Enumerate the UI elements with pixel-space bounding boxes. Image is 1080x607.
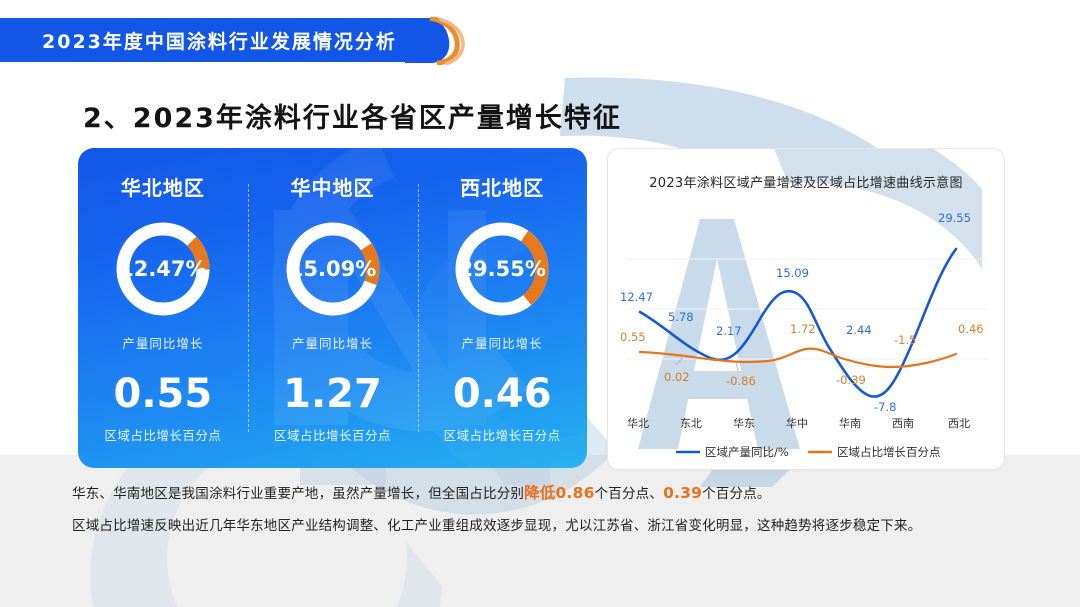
donut-chart-huazhong: 15.09% [279, 215, 387, 323]
donut-value-label: 12.47% [109, 215, 217, 323]
header-ribbon-curve-accent [405, 17, 475, 65]
pct-caption: 产量同比增长 [292, 333, 373, 352]
data-label-blue-5: -7.8 [874, 400, 896, 414]
donut-chart-huabei: 12.47% [109, 215, 217, 323]
data-label-orange-3: 1.72 [790, 322, 816, 336]
data-label-blue-3: 15.09 [776, 266, 809, 280]
share-caption: 区域占比增长百分点 [444, 425, 561, 444]
data-label-orange-0: 0.55 [620, 330, 646, 344]
note-1-part-b: 个百分点、 [595, 486, 664, 502]
legend-label-share-growth: 区域占比增长百分点 [837, 445, 941, 459]
x-axis-label-5: 西南 [892, 417, 914, 430]
x-axis-label-6: 西北 [948, 417, 970, 430]
pct-caption: 产量同比增长 [122, 333, 203, 352]
region-name: 西北地区 [460, 172, 544, 201]
x-axis-label-0: 华北 [627, 416, 649, 430]
data-label-orange-5: -1.5 [894, 333, 916, 347]
x-axis-label-3: 华中 [786, 416, 808, 430]
share-caption: 区域占比增长百分点 [274, 425, 391, 444]
donut-chart-xibei: 29.55% [448, 215, 556, 323]
data-label-blue-1: 5.78 [668, 310, 694, 324]
column-divider-2 [418, 184, 419, 432]
data-label-orange-4: -0.39 [836, 373, 866, 387]
region-name: 华中地区 [291, 172, 375, 201]
donut-value-label: 29.55% [448, 215, 556, 323]
bottom-notes: 华东、华南地区是我国涂料行业重要产地，虽然产量增长，但全国占比分别降低0.86个… [72, 486, 921, 551]
header-ribbon-bar: 2023年度中国涂料行业发展情况分析 [0, 18, 432, 62]
legend-label-production-yoy: 区域产量同比/% [705, 445, 789, 459]
trend-chart-card: 2023年涂料区域产量增速及区域占比增速曲线示意图 [607, 148, 1005, 470]
x-axis-label-2: 华东 [733, 416, 755, 430]
regional-stats-card: 华北地区 12.47% 产量同比增长 0.55 区域占比增长百分点 华中地区 1… [78, 148, 587, 468]
data-label-orange-1: 0.02 [664, 370, 690, 384]
note-1-highlight-1: 降低0.86 [524, 484, 594, 502]
data-label-orange-2: -0.86 [726, 374, 756, 388]
chart-plot-area: 12.47 5.78 2.17 15.09 2.44 -7.8 29.55 0.… [608, 149, 1004, 469]
data-label-blue-0: 12.47 [620, 290, 653, 304]
share-value: 0.55 [113, 374, 212, 414]
note-line-2: 区域占比增速反映出近几年华东地区产业结构调整、化工产业重组成效逐步显现，尤以江苏… [72, 520, 921, 534]
region-name: 华北地区 [121, 172, 205, 201]
chart-legend: 区域产量同比/% 区域占比增长百分点 [676, 445, 941, 459]
header-ribbon-title: 2023年度中国涂料行业发展情况分析 [42, 27, 397, 54]
page-title: 2、2023年涂料行业各省区产量增长特征 [83, 96, 622, 135]
note-line-1: 华东、华南地区是我国涂料行业重要产地，虽然产量增长，但全国占比分别降低0.86个… [72, 486, 921, 502]
donut-value-label: 15.09% [279, 215, 387, 323]
note-1-part-a: 华东、华南地区是我国涂料行业重要产地，虽然产量增长，但全国占比分别 [72, 486, 524, 502]
data-label-blue-6: 29.55 [938, 211, 971, 225]
stat-column-xibei: 西北地区 29.55% 产量同比增长 0.46 区域占比增长百分点 [417, 148, 587, 468]
data-label-orange-6: 0.46 [958, 322, 984, 336]
column-divider-1 [248, 184, 249, 432]
share-caption: 区域占比增长百分点 [104, 425, 221, 444]
stat-column-huazhong: 华中地区 15.09% 产量同比增长 1.27 区域占比增长百分点 [248, 148, 418, 468]
x-axis-label-1: 东北 [680, 417, 702, 430]
pct-caption: 产量同比增长 [462, 333, 543, 352]
share-value: 1.27 [283, 374, 382, 414]
x-axis-label-4: 华南 [839, 416, 861, 430]
data-label-blue-2: 2.17 [716, 324, 742, 338]
share-value: 0.46 [453, 374, 552, 414]
stat-column-huabei: 华北地区 12.47% 产量同比增长 0.55 区域占比增长百分点 [78, 148, 248, 468]
note-1-highlight-2: 0.39 [663, 484, 702, 502]
data-label-blue-4: 2.44 [846, 323, 872, 337]
note-1-part-c: 个百分点。 [702, 486, 771, 502]
slide-root: 2023年度中国涂料行业发展情况分析 2、2023年涂料行业各省区产量增长特征 [0, 0, 1080, 607]
